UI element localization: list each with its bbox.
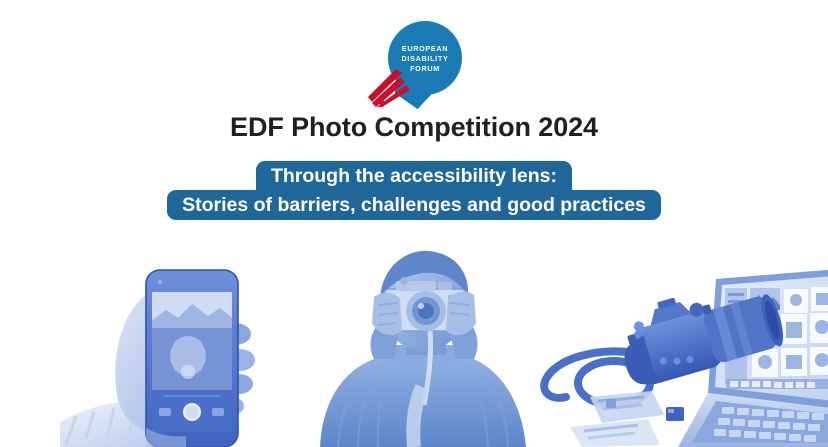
- photo-camera-and-laptop: [540, 267, 828, 447]
- page-title: EDF Photo Competition 2024: [0, 111, 828, 143]
- logo-line-european: EUROPEAN: [402, 44, 448, 53]
- european-disability-forum-logo: EUROPEAN DISABILITY FORUM: [366, 21, 462, 107]
- subtitle-banner: Through the accessibility lens: Stories …: [0, 161, 828, 220]
- photo-person-using-camera: [278, 247, 568, 447]
- subtitle-line-1: Through the accessibility lens:: [256, 161, 572, 191]
- logo-area: EUROPEAN DISABILITY FORUM: [0, 21, 828, 107]
- logo-line-forum: FORUM: [410, 64, 440, 73]
- logo-text: EUROPEAN DISABILITY FORUM: [388, 21, 462, 95]
- subtitle-line-2: Stories of barriers, challenges and good…: [167, 190, 661, 220]
- logo-line-disability: DISABILITY: [402, 54, 449, 63]
- photo-strip: [0, 232, 828, 447]
